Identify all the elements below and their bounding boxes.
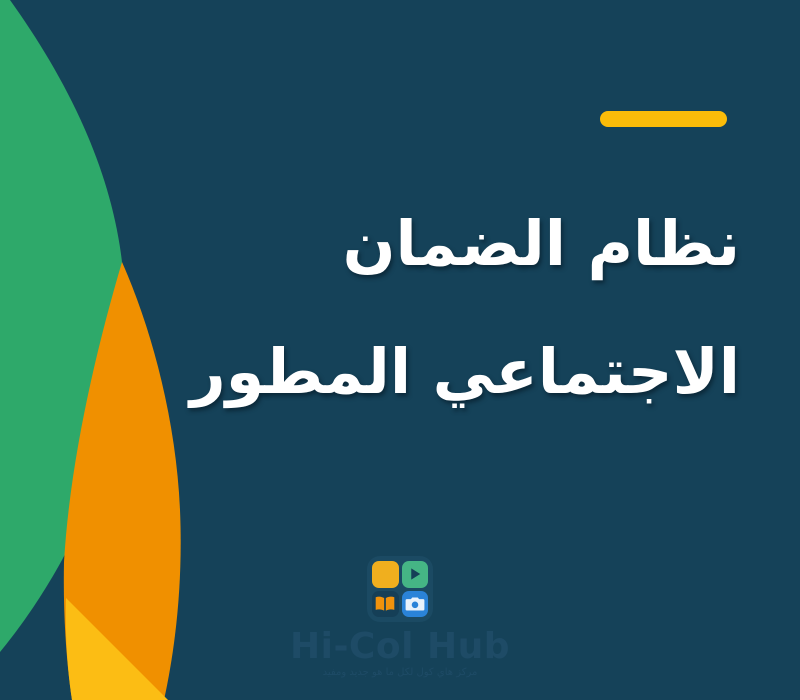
brand-logo: [367, 556, 433, 622]
chat-bubble-icon: [372, 561, 399, 588]
brand-name: Hi-Col Hub: [290, 628, 510, 666]
watermark: Hi-Col Hub مركز هاي كول لكل ما هو جديد و…: [0, 556, 800, 678]
gold-accent-bar: [600, 111, 727, 127]
green-leaf-shape: [0, 0, 124, 652]
title-line-2: الاجتماعي المطور: [240, 308, 740, 436]
open-book-icon: [372, 591, 399, 618]
banner-canvas: نظام الضمان الاجتماعي المطور: [0, 0, 800, 700]
play-button-icon: [402, 561, 429, 588]
title-line-1: نظام الضمان: [240, 180, 740, 308]
page-title: نظام الضمان الاجتماعي المطور: [240, 180, 740, 436]
brand-tagline: مركز هاي كول لكل ما هو جديد ومفيد: [323, 667, 478, 678]
camera-icon: [402, 591, 429, 618]
